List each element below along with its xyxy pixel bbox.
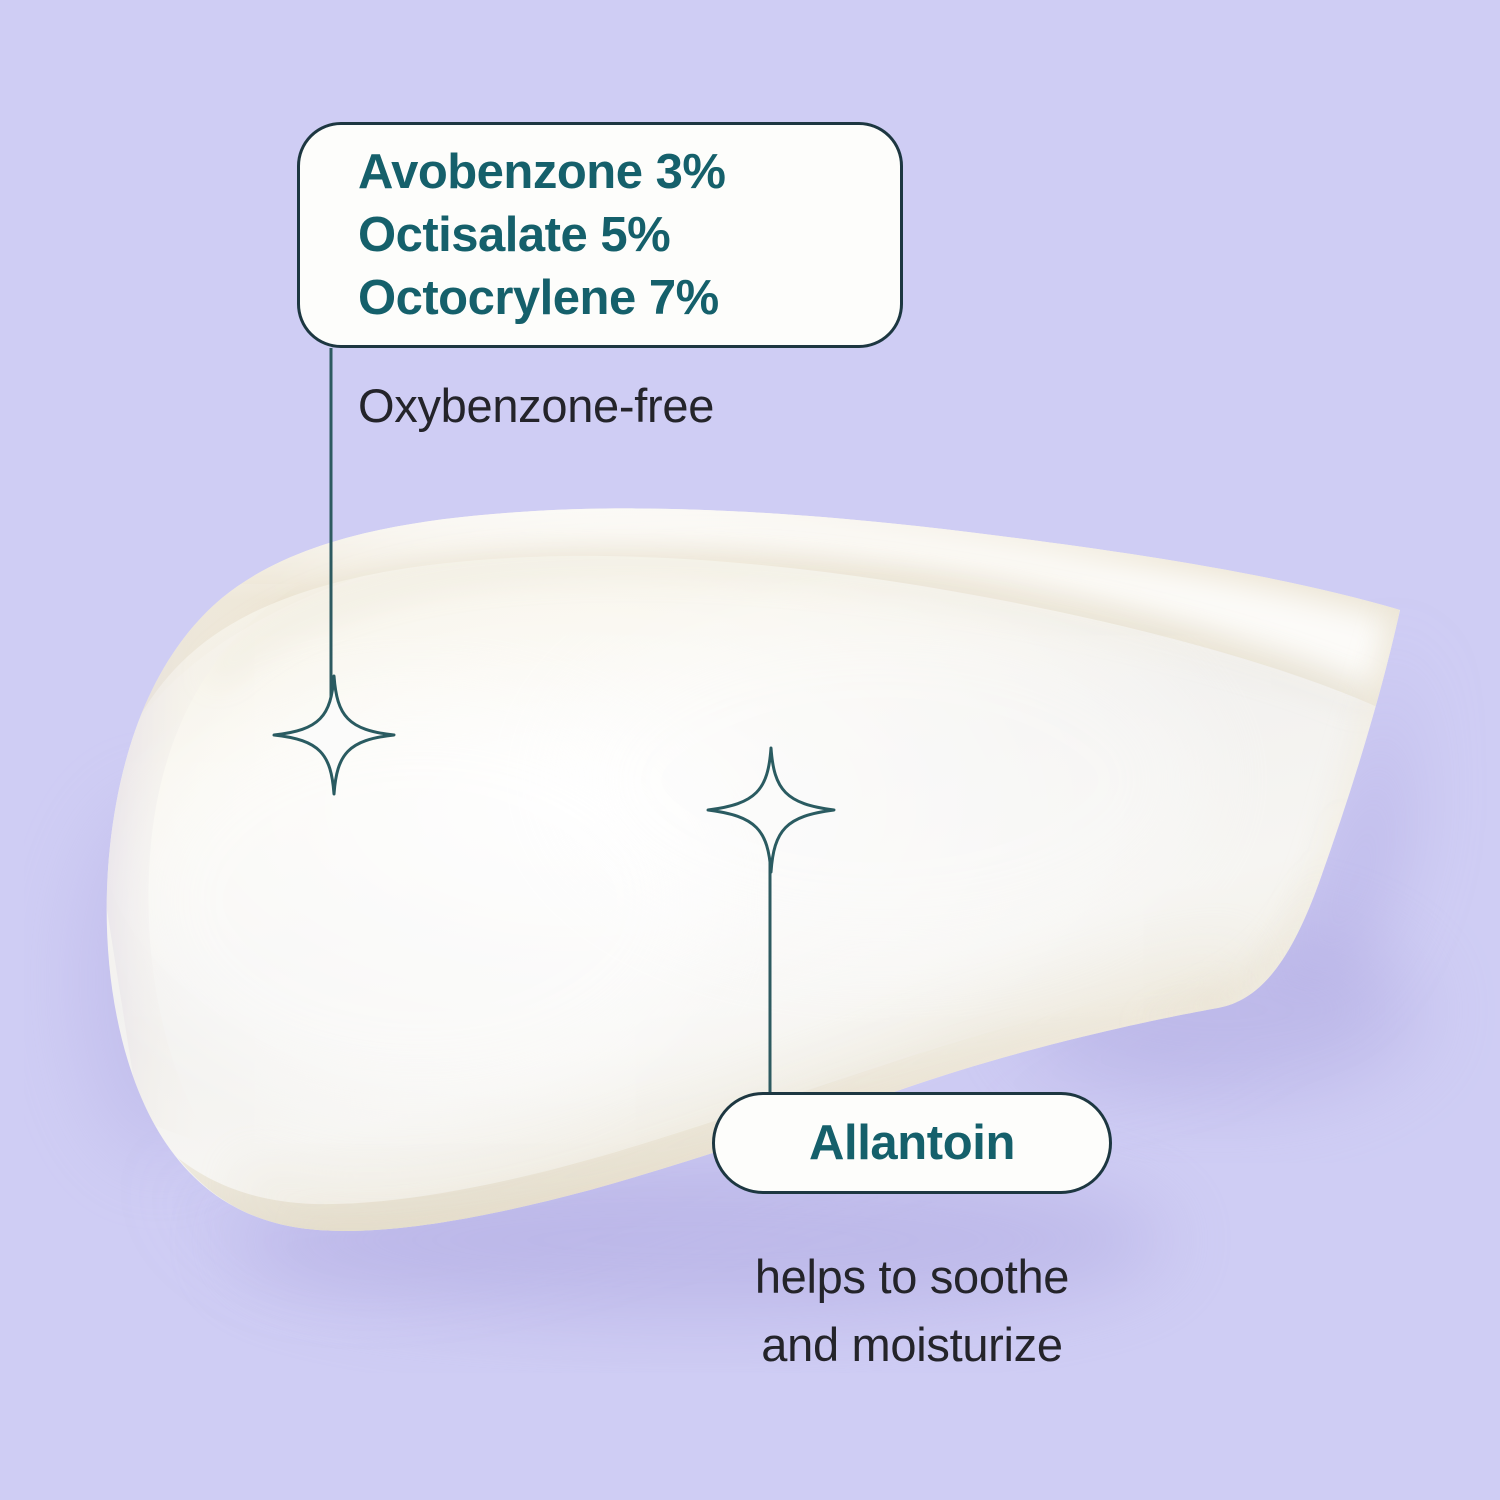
oxybenzone-free-caption: Oxybenzone-free	[358, 378, 714, 434]
sparkle-icon-bottom	[708, 748, 834, 872]
allantoin-label: Allantoin	[809, 1119, 1015, 1168]
active-ingredients-callout: Avobenzone 3% Octisalate 5% Octocrylene …	[297, 122, 903, 348]
ingredient-line-1: Avobenzone 3%	[358, 141, 900, 204]
connector-lines	[331, 348, 770, 1094]
swatch-shadow	[80, 640, 1420, 1318]
benefit-line-2: and moisturize	[712, 1311, 1112, 1379]
allantoin-benefit-caption: helps to soothe and moisturize	[712, 1243, 1112, 1379]
product-infographic: Avobenzone 3% Octisalate 5% Octocrylene …	[0, 0, 1500, 1500]
allantoin-callout: Allantoin	[712, 1092, 1112, 1194]
ingredient-line-2: Octisalate 5%	[358, 204, 900, 267]
benefit-line-1: helps to soothe	[712, 1243, 1112, 1311]
sparkle-icon-top	[274, 676, 394, 794]
ingredient-line-3: Octocrylene 7%	[358, 267, 900, 330]
